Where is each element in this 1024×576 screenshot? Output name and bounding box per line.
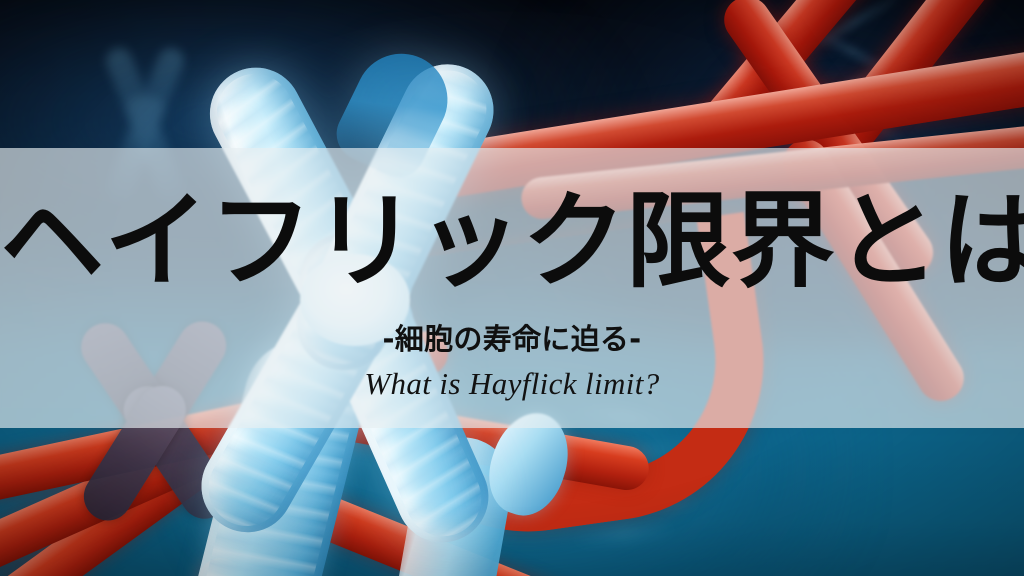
subtitle-japanese: -細胞の寿命に迫る- — [0, 316, 1024, 358]
subtitle-english: What is Hayflick limit? — [0, 366, 1024, 402]
page-title: ヘイフリック限界とは — [0, 186, 1024, 296]
thumbnail-canvas: ヘイフリック限界とは -細胞の寿命に迫る- What is Hayflick l… — [0, 0, 1024, 576]
